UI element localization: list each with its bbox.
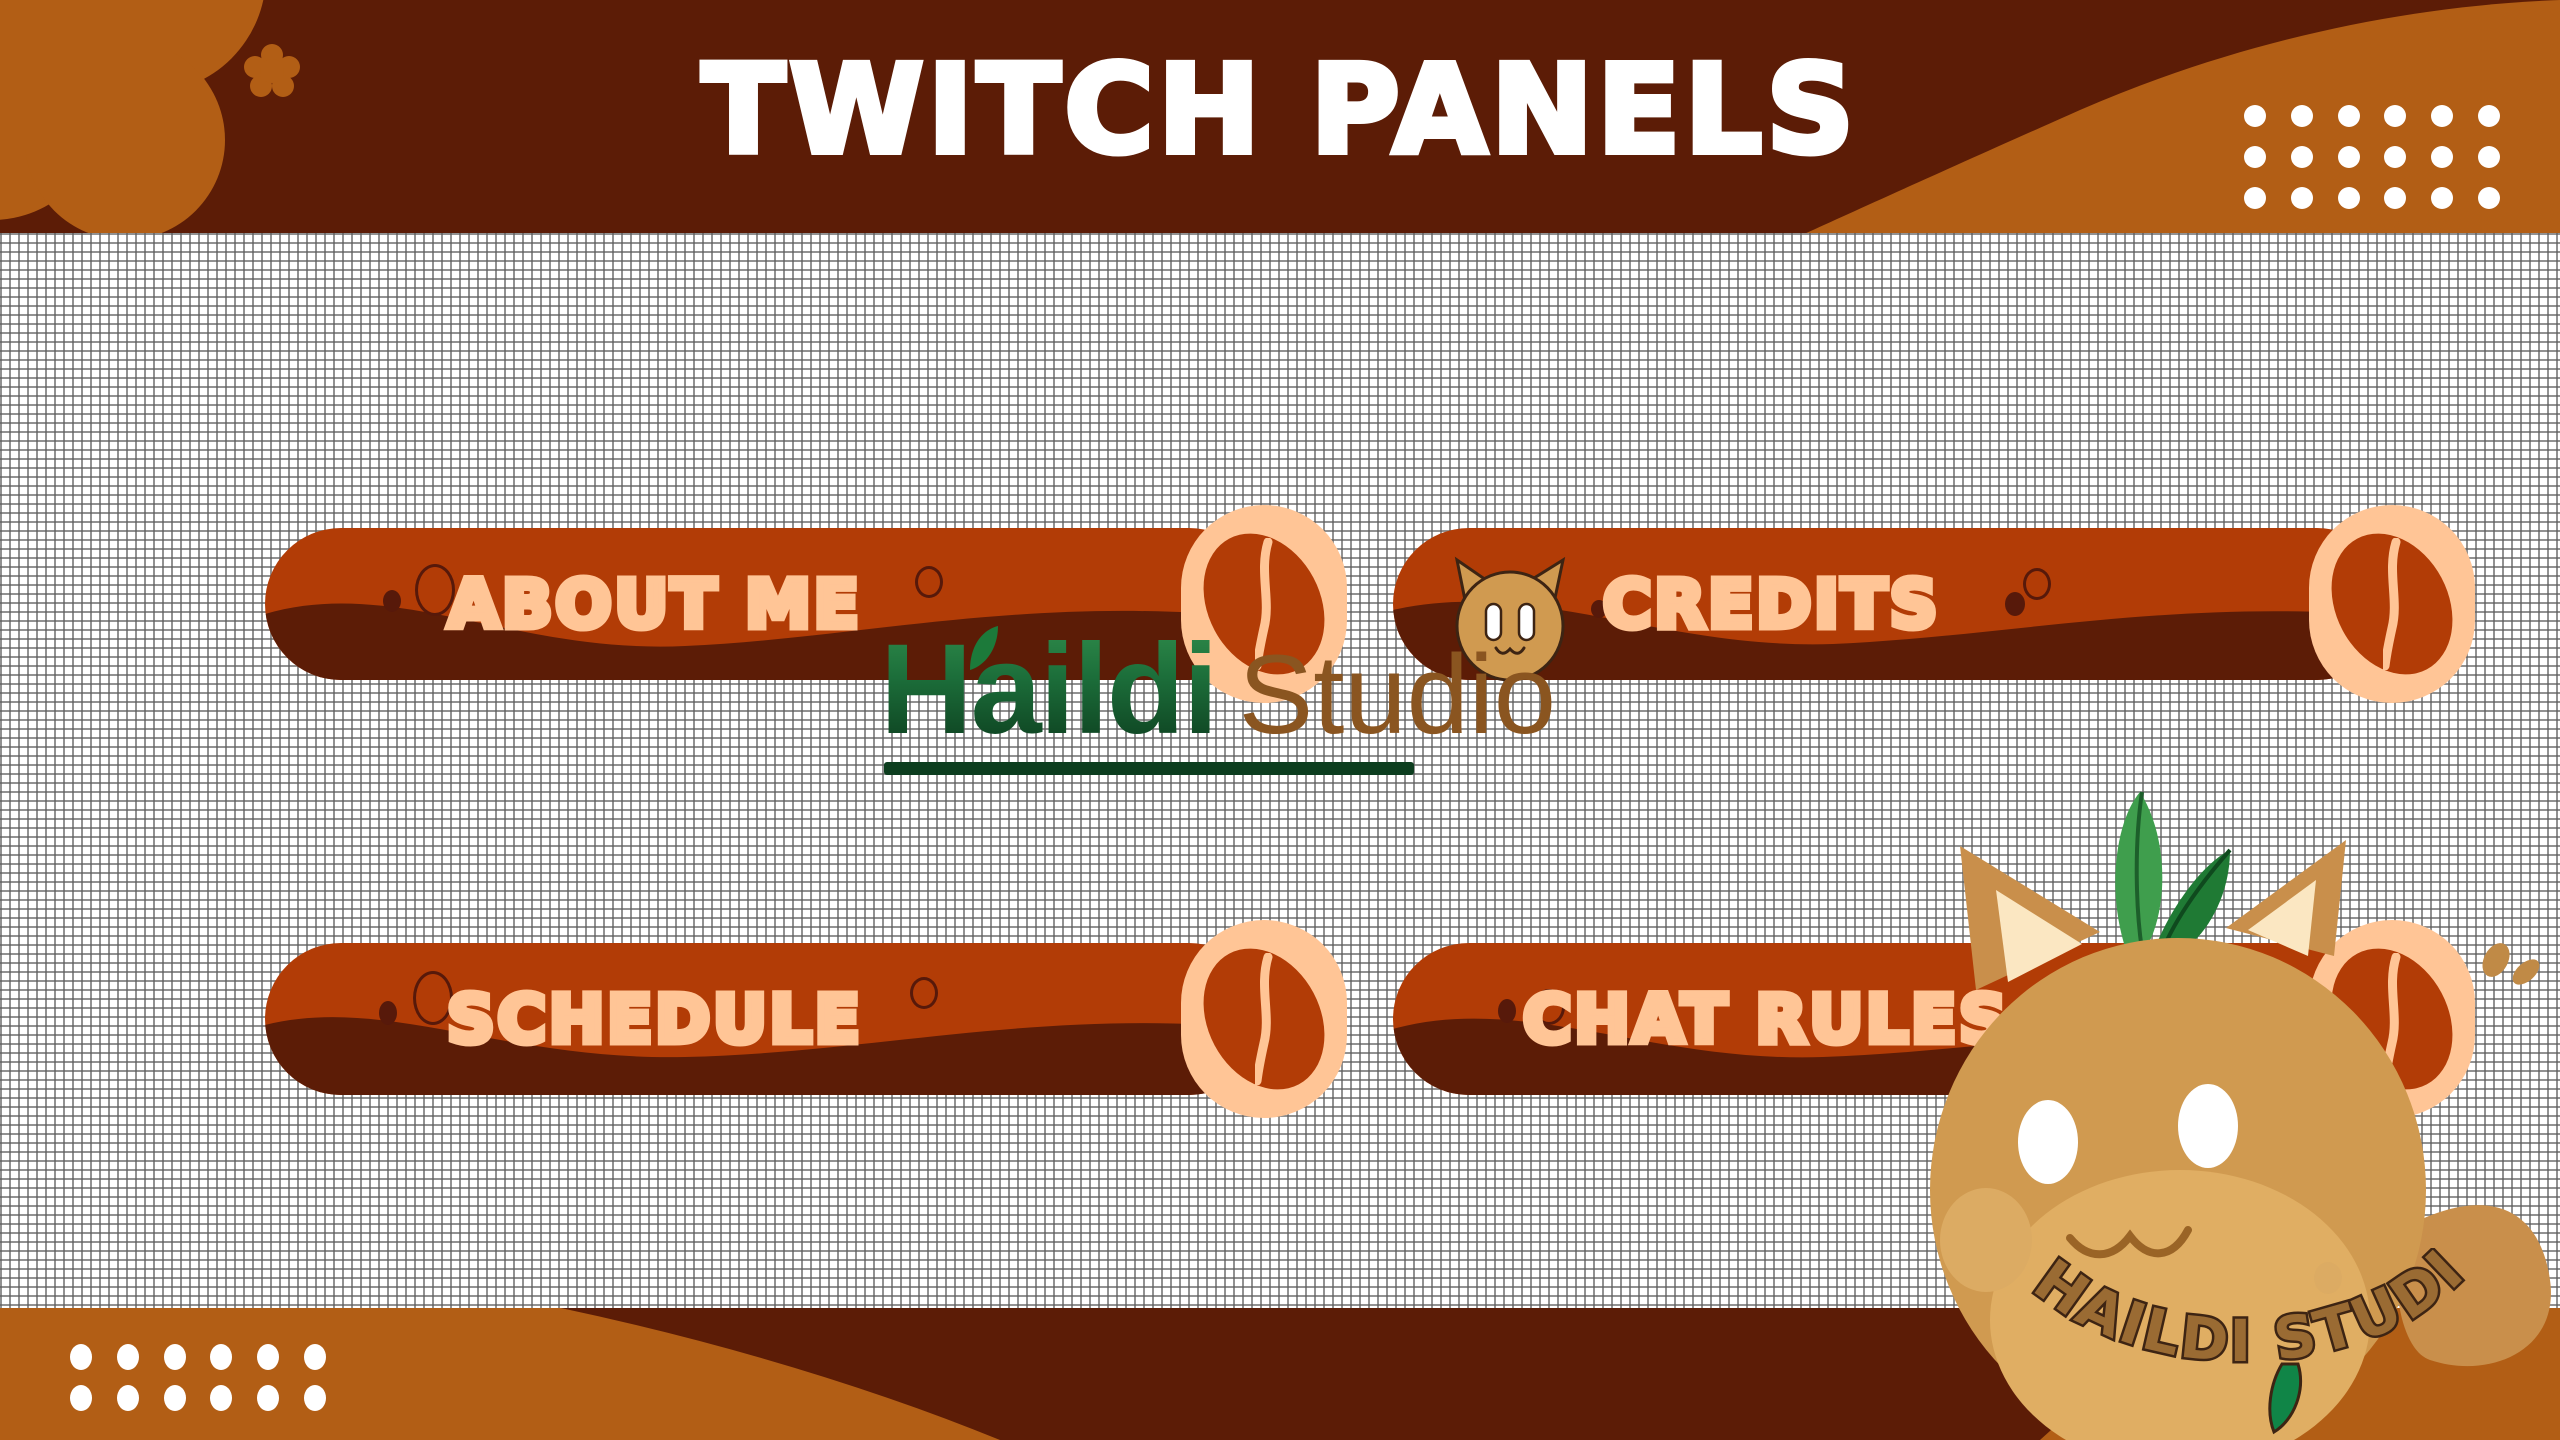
mascot-wordmark-text: HAILDI STUDIO — [2012, 1248, 2478, 1376]
coffee-bean-icon — [2309, 505, 2475, 703]
page-title: TWITCH PANELS — [0, 0, 2560, 233]
watermark-brand-secondary: Studio — [1239, 639, 1557, 751]
dot — [117, 1385, 139, 1411]
decor-dot — [383, 590, 401, 612]
dot — [304, 1385, 326, 1411]
watermark-underline — [884, 762, 1414, 775]
decor-ring — [2023, 568, 2051, 600]
decor-dot — [1498, 999, 1516, 1023]
dot — [117, 1344, 139, 1370]
decor-dot — [2005, 592, 2025, 616]
bean-crease — [1255, 953, 1273, 1085]
panel-set-canvas: TWITCH PANELS ABOUT ME — [0, 0, 2560, 1440]
header-banner: TWITCH PANELS — [0, 0, 2560, 233]
mascot-wordmark: HAILDI STUDIO — [2012, 1248, 2482, 1398]
dot — [70, 1344, 92, 1370]
dot — [257, 1385, 279, 1411]
splash-dot — [2477, 938, 2515, 981]
panel-label-credits: CREDITS — [1603, 528, 1940, 680]
splash-dot — [2508, 955, 2544, 990]
leaf-icon — [964, 620, 1004, 676]
watermark-brand-primary: Haildi — [880, 626, 1217, 754]
dot — [164, 1385, 186, 1411]
dot — [257, 1344, 279, 1370]
svg-text:HAILDI STUDIO: HAILDI STUDIO — [2012, 1248, 2478, 1376]
watermark-row: Haildi Studio — [880, 626, 1556, 754]
panel-label-about-me: ABOUT ME — [448, 528, 862, 680]
coffee-bean-icon — [1181, 920, 1347, 1118]
dot — [70, 1385, 92, 1411]
decor-dot — [379, 1001, 397, 1025]
panel-label-schedule: SCHEDULE — [447, 943, 863, 1095]
decor-ring — [910, 977, 938, 1009]
mascot-eye-left — [2018, 1100, 2078, 1184]
dot — [164, 1344, 186, 1370]
dot — [210, 1385, 232, 1411]
decor-ring — [915, 566, 943, 598]
dot — [304, 1344, 326, 1370]
bean-crease — [2383, 538, 2401, 670]
panel-schedule[interactable]: SCHEDULE — [265, 943, 1265, 1095]
footer-dot-grid — [58, 1336, 338, 1418]
dot — [210, 1344, 232, 1370]
mascot-eye-right — [2178, 1084, 2238, 1168]
watermark: Haildi Studio — [880, 626, 1556, 775]
